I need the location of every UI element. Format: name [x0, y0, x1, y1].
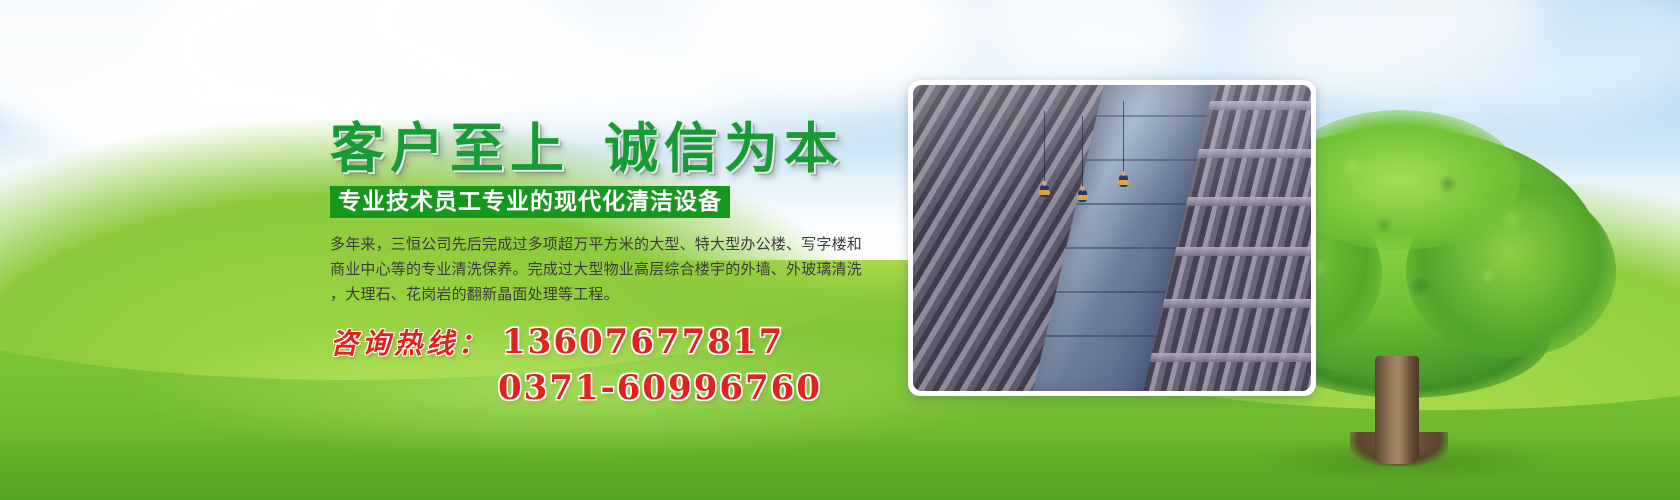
- description-line: 多年来，三恒公司先后完成过多项超万平方米的大型、特大型办公楼、写字楼和: [330, 232, 890, 257]
- hotline-label: 咨询热线：: [330, 327, 490, 360]
- hotline-secondary: 0371-60996760: [498, 368, 822, 408]
- hotline-primary: 咨询热线：13607677817: [330, 322, 890, 362]
- description-paragraph: 多年来，三恒公司先后完成过多项超万平方米的大型、特大型办公楼、写字楼和 商业中心…: [330, 232, 890, 307]
- tree-trunk: [1375, 356, 1419, 464]
- photo-gloss: [913, 85, 1311, 214]
- building-photo-frame: [908, 80, 1316, 396]
- subtitle-text: 专业技术员工专业的现代化清洁设备: [338, 191, 722, 214]
- hotline-mobile-number[interactable]: 13607677817: [502, 322, 784, 362]
- page-title: 客户至上诚信为本: [330, 104, 844, 183]
- headline-part-2: 诚信为本: [604, 116, 844, 180]
- description-line: ，大理石、花岗岩的翻新晶面处理等工程。: [330, 282, 890, 307]
- building-photo: [913, 85, 1311, 391]
- subtitle-bar: 专业技术员工专业的现代化清洁设备: [330, 186, 730, 218]
- promo-banner: 客户至上诚信为本 专业技术员工专业的现代化清洁设备 多年来，三恒公司先后完成过多…: [0, 0, 1680, 500]
- description-line: 商业中心等的专业清洗保养。完成过大型物业高层综合楼宇的外墙、外玻璃清洗: [330, 257, 890, 282]
- banner-text-content: 客户至上诚信为本 专业技术员工专业的现代化清洁设备 多年来，三恒公司先后完成过多…: [0, 0, 900, 500]
- hotline-landline-number[interactable]: 0371-60996760: [498, 368, 822, 408]
- headline-part-1: 客户至上: [330, 116, 570, 180]
